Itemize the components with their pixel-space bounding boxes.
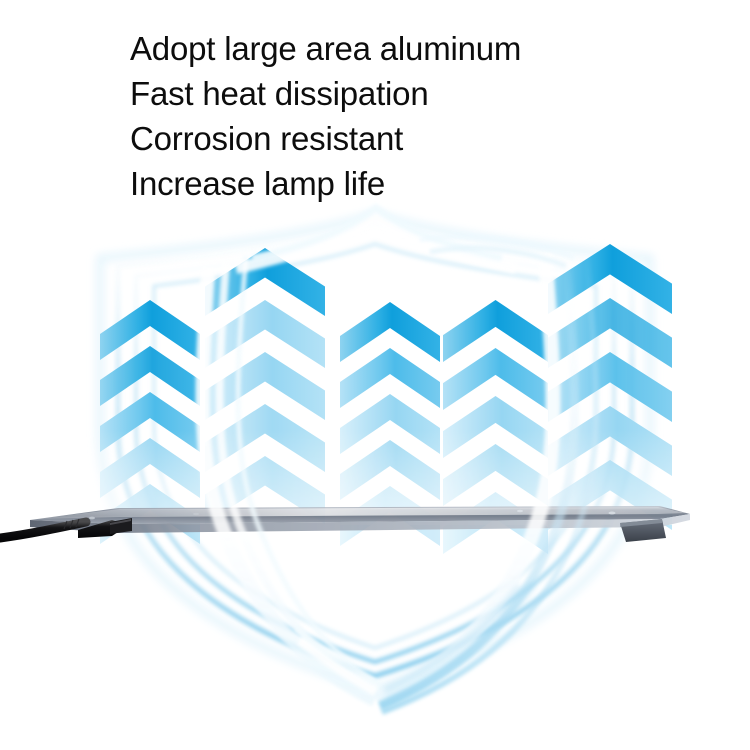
fade-veil <box>80 430 680 525</box>
feature-line-1: Adopt large area aluminum <box>130 26 690 71</box>
feature-text-block: Adopt large area aluminum Fast heat diss… <box>130 26 690 206</box>
feature-line-2: Fast heat dissipation <box>130 71 690 116</box>
feature-line-4: Increase lamp life <box>130 161 690 206</box>
feature-line-3: Corrosion resistant <box>130 116 690 161</box>
feature-graphic-canvas: Adopt large area aluminum Fast heat diss… <box>0 0 750 750</box>
